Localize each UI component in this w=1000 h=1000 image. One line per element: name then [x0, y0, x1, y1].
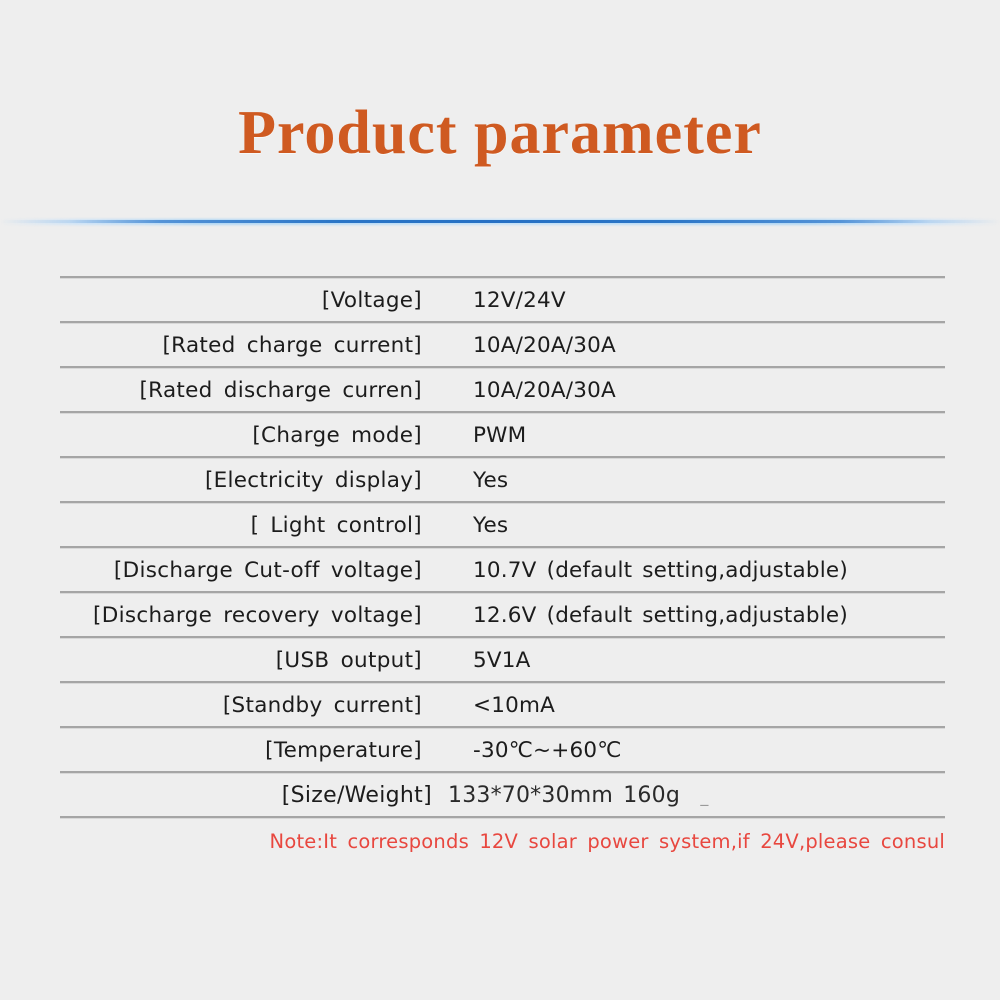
spec-label: [Voltage] — [60, 288, 422, 313]
spec-label: [Rated discharge curren] — [60, 378, 422, 403]
table-row: [Discharge recovery voltage]12.6V (defau… — [60, 594, 945, 636]
spec-value: 5V1A — [422, 648, 531, 673]
table-row: [Rated discharge curren]10A/20A/30A — [60, 369, 945, 411]
spec-label: [Standby current] — [60, 693, 422, 718]
table-row: [USB output]5V1A — [60, 639, 945, 681]
spec-value-text: Yes — [473, 513, 508, 538]
spec-value: PWM — [422, 423, 526, 448]
table-row: [ Light control]Yes — [60, 504, 945, 546]
spec-label: [Discharge recovery voltage] — [60, 603, 422, 628]
note-area: Note:It corresponds 12V solar power syst… — [60, 830, 945, 853]
table-row: [Size/Weight]133*70*30mm 160g _ — [60, 774, 945, 816]
spec-label: [Discharge Cut-off voltage] — [60, 558, 422, 583]
spec-value: 133*70*30mm 160g _ — [432, 783, 709, 808]
spec-value: 10A/20A/30A — [422, 378, 616, 403]
page-title: Product parameter — [238, 102, 762, 164]
spec-value-text: PWM — [473, 423, 526, 448]
spec-value-text: 10A/20A/30A — [473, 333, 616, 358]
spec-label: [Temperature] — [60, 738, 422, 763]
spec-value-text: 10A/20A/30A — [473, 378, 616, 403]
spec-value-text: Yes — [473, 468, 508, 493]
spec-value-text: 133*70*30mm 160g — [448, 783, 680, 808]
table-row: [Discharge Cut-off voltage]10.7V (defaul… — [60, 549, 945, 591]
table-row: [Standby current]<10mA — [60, 684, 945, 726]
table-row: [Rated charge current]10A/20A/30A — [60, 324, 945, 366]
spec-label: [ Light control] — [60, 513, 422, 538]
section-divider — [0, 217, 1000, 227]
spec-value-text: 10.7V (default setting,adjustable) — [473, 558, 848, 583]
spec-value-text: 5V1A — [473, 648, 531, 673]
divider-core — [0, 220, 1000, 223]
table-row: [Charge mode]PWM — [60, 414, 945, 456]
title-area: Product parameter — [0, 0, 1000, 225]
spec-value: 12.6V (default setting,adjustable) — [422, 603, 848, 628]
spec-value: -30℃~+60℃ — [422, 738, 622, 763]
spec-value: 10A/20A/30A — [422, 333, 616, 358]
spec-value: Yes — [422, 468, 508, 493]
row-separator — [60, 816, 945, 819]
table-row: [Voltage]12V/24V — [60, 279, 945, 321]
spec-value: <10mA — [422, 693, 555, 718]
spec-value-text: 12.6V (default setting,adjustable) — [473, 603, 848, 628]
spec-value: Yes — [422, 513, 508, 538]
spec-value: 10.7V (default setting,adjustable) — [422, 558, 848, 583]
spec-value-text: <10mA — [473, 693, 555, 718]
spec-table: [Voltage]12V/24V[Rated charge current]10… — [60, 276, 945, 819]
spec-label: [Charge mode] — [60, 423, 422, 448]
trailing-mark: _ — [700, 787, 708, 806]
spec-label: [USB output] — [60, 648, 422, 673]
spec-value: 12V/24V — [422, 288, 566, 313]
spec-label: [Electricity display] — [60, 468, 422, 493]
spec-label: [Size/Weight] — [60, 783, 432, 808]
spec-value-text: -30℃~+60℃ — [473, 738, 622, 763]
table-row: [Temperature]-30℃~+60℃ — [60, 729, 945, 771]
spec-label: [Rated charge current] — [60, 333, 422, 358]
table-row: [Electricity display]Yes — [60, 459, 945, 501]
note-text: Note:It corresponds 12V solar power syst… — [270, 830, 945, 853]
spec-value-text: 12V/24V — [473, 288, 566, 313]
